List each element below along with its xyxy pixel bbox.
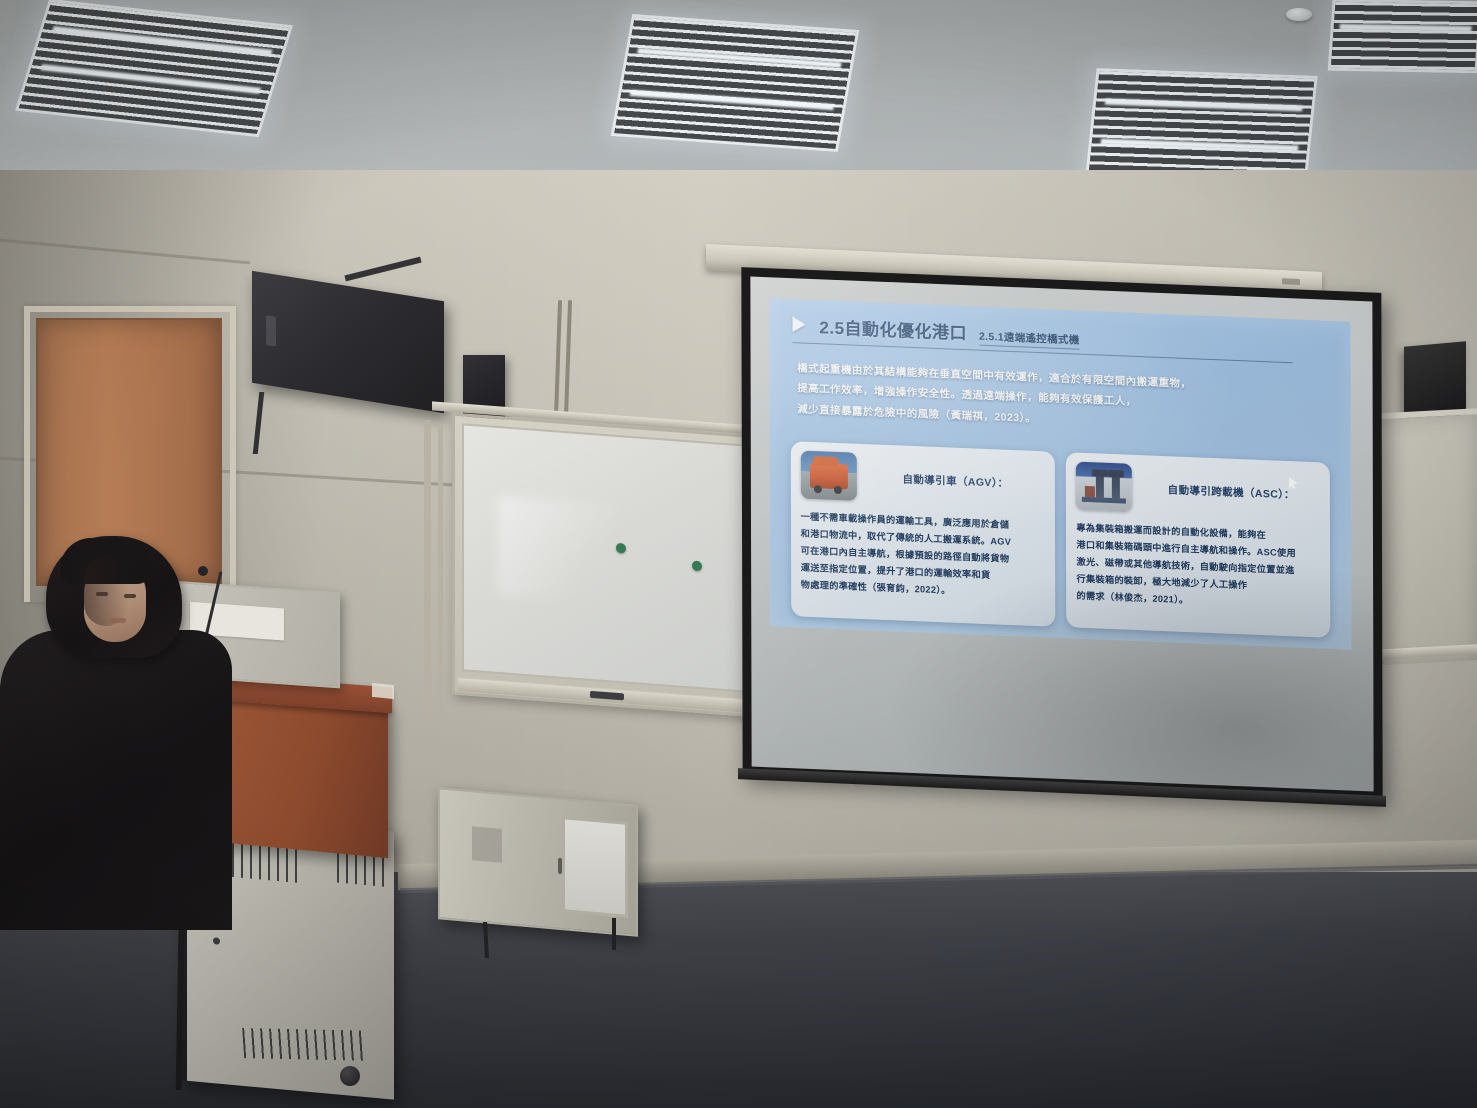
ceiling-light-fixture xyxy=(611,14,860,152)
wall-conduit xyxy=(438,424,443,714)
microphone-head xyxy=(198,566,208,576)
wall-conduit xyxy=(424,420,431,720)
floor-equipment-cabinet[interactable] xyxy=(438,787,638,936)
card-body-asc: 專為集裝箱搬運而設計的自動化設備，能夠在 港口和集裝箱碼頭中進行自主導航和操作。… xyxy=(1076,520,1320,615)
cabinet-leg xyxy=(612,918,616,950)
ceiling-light-fixture xyxy=(1328,0,1477,73)
smoke-detector-icon xyxy=(1286,8,1312,21)
slide-lead-paragraph: 橋式起重機由於其結構能夠在垂直空間中有效運作，適合於有限空間內搬運重物， 提高工… xyxy=(797,358,1321,440)
projector-screen-surface: 2.5自動化優化港口 2.5.1遠端遙控橋式機 橋式起重機由於其結構能夠在垂直空… xyxy=(750,276,1373,791)
card-body-agv: 一種不需車載操作員的運輸工具，廣泛應用於倉儲 和港口物流中，取代了傳統的人工搬運… xyxy=(801,509,1045,604)
presentation-slide: 2.5自動化優化港口 2.5.1遠端遙控橋式機 橋式起重機由於其結構能夠在垂直空… xyxy=(769,298,1351,650)
asc-stacking-crane-photo xyxy=(1076,462,1132,512)
whiteboard-magnet[interactable] xyxy=(616,543,626,554)
chevron-right-icon xyxy=(792,316,805,333)
presenter-eye xyxy=(124,594,136,598)
whiteboard xyxy=(452,412,758,717)
cabinet-lock[interactable] xyxy=(213,937,220,945)
slide-card-row: 自動導引車（AGV）： 一種不需車載操作員的運輸工具，廣泛應用於倉儲 和港口物流… xyxy=(790,441,1330,638)
cabinet-door-window xyxy=(562,816,628,918)
cabinet-latch[interactable] xyxy=(558,858,562,874)
slide-title: 2.5自動化優化港口 xyxy=(819,313,967,344)
slide-card-agv: 自動導引車（AGV）： 一種不需車載操作員的運輸工具，廣泛應用於倉儲 和港口物流… xyxy=(790,441,1054,627)
agv-vehicle-photo xyxy=(800,451,856,501)
cabinet-vent xyxy=(242,1028,364,1061)
card-title-agv: 自動導引車（AGV）： xyxy=(866,470,1044,492)
podium-caster xyxy=(340,1066,360,1086)
presenter-mouth xyxy=(110,618,126,623)
podium-label-tag xyxy=(372,683,394,699)
slide-subtitle: 2.5.1遠端遙控橋式機 xyxy=(979,328,1079,349)
whiteboard-magnet[interactable] xyxy=(692,561,702,572)
presenter-body xyxy=(0,630,232,930)
cabinet-label xyxy=(472,826,502,863)
presenter-eye xyxy=(96,592,108,596)
classroom-photo-scene: 2.5自動化優化港口 2.5.1遠端遙控橋式機 橋式起重機由於其結構能夠在垂直空… xyxy=(0,0,1477,1108)
card-title-asc: 自動導引跨載機（ASC）： xyxy=(1142,481,1320,503)
projector-screen-frame: 2.5自動化優化港口 2.5.1遠端遙控橋式機 橋式起重機由於其結構能夠在垂直空… xyxy=(741,267,1382,801)
presenter-face-shadow xyxy=(84,556,128,626)
